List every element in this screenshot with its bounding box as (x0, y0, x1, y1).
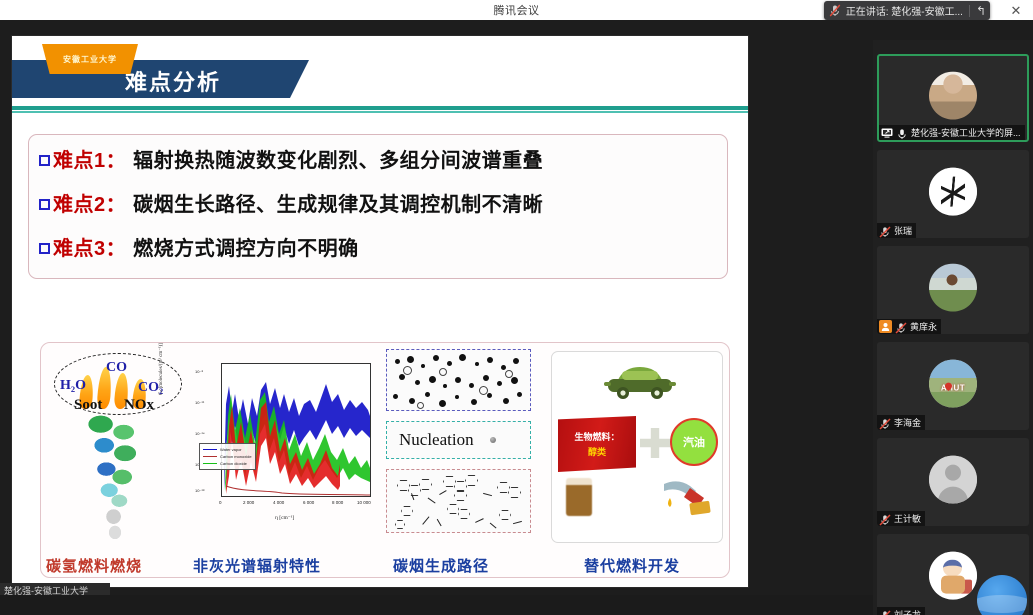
participant-name: 王计敏 (894, 512, 921, 525)
species-label-co: CO (106, 360, 127, 376)
soot-panel-pah (386, 469, 531, 533)
bullet-square-icon (39, 155, 50, 166)
legend-swatch (203, 463, 217, 464)
chart-legend: Water vapor Carbon monoxide Carbon dioxi… (199, 443, 256, 470)
legend-swatch (203, 456, 217, 457)
figure-combustion: H₂O CO CO₂ Soot NOx (49, 349, 189, 543)
soot-panel-nucleation: Nucleation (386, 421, 531, 459)
figure-alternative-fuels: 生物燃料： 醇类 汽油 (551, 351, 723, 543)
participant-tile[interactable]: 张瑞 (877, 150, 1029, 238)
slide-rule-teal (12, 106, 748, 110)
participant-name: 黄庠永 (910, 320, 937, 333)
legend-item: Carbon monoxide (203, 453, 252, 460)
chart-x-tick: 4 000 (273, 500, 284, 505)
participant-filmstrip[interactable]: 楚化强-安徽工业大学的屏... 张瑞 (873, 40, 1033, 615)
bullet-square-icon (39, 243, 50, 254)
chart-y-tick: 10⁻⁸ (195, 369, 203, 374)
chart-x-axis-label: η [cm⁻¹] (275, 515, 294, 521)
participant-namebar: 王计敏 (877, 511, 925, 526)
participant-name: 李海金 (894, 416, 921, 429)
chart-x-tick: 10 000 (357, 500, 371, 505)
legend-label: Water vapor (220, 446, 242, 453)
legend-swatch (203, 449, 217, 450)
share-status-text: 楚化强-安徽工业大学 (4, 584, 88, 595)
key-point-label: 难点2： (53, 188, 126, 217)
participant-name: 张瑞 (894, 224, 912, 237)
chart-x-tick: 2 000 (243, 500, 254, 505)
pill-divider (969, 5, 970, 17)
biofuel-label: 生物燃料： (574, 430, 619, 443)
participant-namebar: 李海金 (877, 415, 925, 430)
mic-muted-icon (879, 225, 891, 237)
fuel-nozzle-icon (660, 474, 716, 522)
chart-plot-area (221, 363, 371, 497)
app-title: 腾讯会议 (494, 2, 540, 18)
participant-namebar: 黄庠永 (877, 319, 941, 334)
back-arrow-icon[interactable]: ↰ (976, 5, 986, 17)
slide-header: 难点分析 安徽工业大学 (12, 44, 748, 106)
participant-name: 楚化强-安徽工业大学的屏... (911, 126, 1021, 139)
chart-y-axis-label: Cₙ [molecules/(m³ cm⁻¹)] (158, 343, 164, 395)
figure-caption: 非灰光谱辐射特性 (193, 555, 321, 576)
avatar (929, 264, 977, 312)
avatar (929, 168, 977, 216)
avatar (929, 360, 977, 408)
slide-rule-teal-light (12, 111, 748, 113)
key-point-label: 难点3： (53, 232, 126, 261)
figures-panel: H₂O CO CO₂ Soot NOx Cₙ [molecules/(m³ cm… (40, 342, 730, 578)
nucleus-dot-icon (490, 437, 496, 443)
active-speaker-pill[interactable]: 正在讲话: 楚化强-安徽工... ↰ (824, 1, 990, 20)
university-banner: 安徽工业大学 (42, 44, 138, 74)
cfd-plume-visualization (79, 411, 151, 543)
key-point-label: 难点1： (53, 144, 126, 173)
participant-namebar: 楚化强-安徽工业大学的屏... (879, 125, 1025, 140)
host-badge-icon (879, 320, 892, 333)
participant-namebar: 张瑞 (877, 223, 916, 238)
presentation-slide: 难点分析 安徽工业大学 难点1： 辐射换热随波数变化剧烈、多组分间波谱重叠 难点… (12, 36, 748, 587)
participant-name: 刘子龙 (894, 608, 921, 615)
chart-svg (222, 364, 371, 497)
gasoline-badge: 汽油 (670, 418, 718, 466)
key-point-row: 难点2： 碳烟生长路径、生成规律及其调控机制不清晰 (39, 188, 727, 232)
chart-x-tick: 8 000 (332, 500, 343, 505)
chart-x-tick: 0 (219, 500, 222, 505)
mic-muted-icon (895, 321, 907, 333)
nucleation-label: Nucleation (399, 430, 474, 450)
meeting-workspace: 难点分析 安徽工业大学 难点1： 辐射换热随波数变化剧烈、多组分间波谱重叠 难点… (0, 20, 1033, 595)
participant-tile[interactable]: 王计敏 (877, 438, 1029, 526)
legend-label: Carbon dioxide (220, 460, 247, 467)
key-point-row: 难点3： 燃烧方式调控方向不明确 (39, 232, 727, 276)
participant-tile-active[interactable]: 楚化强-安徽工业大学的屏... (877, 54, 1029, 142)
key-point-row: 难点1： 辐射换热随波数变化剧烈、多组分间波谱重叠 (39, 144, 727, 188)
figure-caption: 碳氢燃料燃烧 (46, 555, 142, 576)
figure-caption: 碳烟生成路径 (393, 555, 489, 576)
active-speaker-label: 正在讲话: 楚化强-安徽工... (846, 3, 963, 18)
figure-caption: 替代燃料开发 (584, 555, 680, 576)
mic-icon (896, 127, 908, 139)
chart-y-tick: 10⁻¹⁴ (195, 431, 205, 436)
mic-muted-icon (879, 609, 891, 615)
gasoline-label: 汽油 (683, 434, 705, 450)
legend-item: Carbon dioxide (203, 460, 252, 467)
key-point-text: 燃烧方式调控方向不明确 (133, 232, 359, 261)
species-label-h2o: H₂O (60, 378, 86, 394)
chart-y-tick: 10⁻¹¹ (195, 400, 204, 405)
figure-soot-pathway: Nucleation (386, 349, 531, 545)
avatar (929, 72, 977, 120)
avatar (929, 552, 977, 600)
screen-share-icon (881, 127, 893, 139)
key-points-box: 难点1： 辐射换热随波数变化剧烈、多组分间波谱重叠 难点2： 碳烟生长路径、生成… (28, 134, 728, 279)
avatar (929, 456, 977, 504)
soot-panel-particles (386, 349, 531, 411)
shared-screen-viewport[interactable]: 难点分析 安徽工业大学 难点1： 辐射换热随波数变化剧烈、多组分间波谱重叠 难点… (12, 36, 748, 587)
participant-tile[interactable]: 黄庠永 (877, 246, 1029, 334)
figure-spectral-chart: Cₙ [molecules/(m³ cm⁻¹)] 10⁻⁸ 10⁻¹¹ 10⁻¹… (191, 357, 378, 535)
chart-y-tick: 10⁻¹⁸ (195, 488, 205, 493)
chart-x-tick: 6 000 (303, 500, 314, 505)
mic-muted-icon (879, 417, 891, 429)
mic-muted-icon (879, 513, 891, 525)
university-name: 安徽工业大学 (63, 54, 117, 65)
legend-item: Water vapor (203, 446, 252, 453)
key-point-text: 碳烟生长路径、生成规律及其调控机制不清晰 (133, 188, 543, 217)
slide-title: 难点分析 (125, 65, 221, 97)
fuel-bottle-image (566, 478, 592, 516)
participant-tile[interactable]: 李海金 (877, 342, 1029, 430)
participant-namebar: 刘子龙 (877, 607, 925, 615)
bullet-square-icon (39, 199, 50, 210)
mic-muted-icon (829, 4, 841, 17)
share-status-strip: 楚化强-安徽工业大学 (0, 583, 110, 595)
close-icon[interactable]: ✕ (1007, 1, 1025, 19)
alcohol-label: 醇类 (588, 445, 606, 458)
biofuel-flag: 生物燃料： 醇类 (558, 416, 636, 472)
car-icon (604, 362, 676, 402)
key-point-text: 辐射换热随波数变化剧烈、多组分间波谱重叠 (133, 144, 543, 173)
legend-label: Carbon monoxide (220, 453, 252, 460)
plus-icon (640, 428, 670, 458)
